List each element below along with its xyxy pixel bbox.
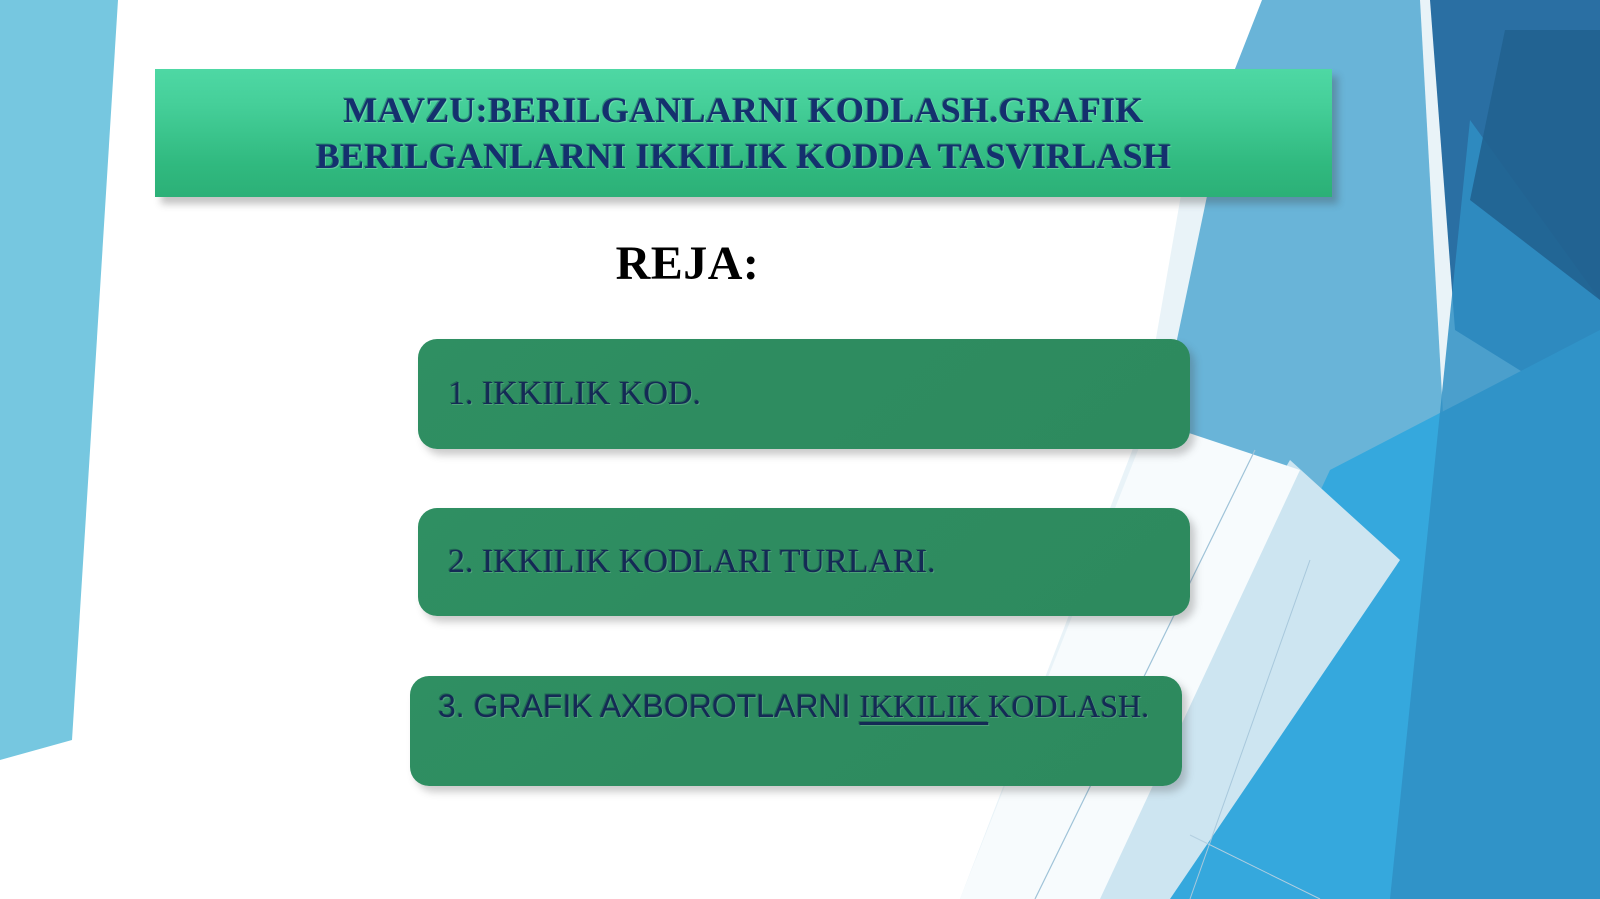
agenda-item-3-hyperlink[interactable]: IKKILIK [859, 688, 988, 724]
agenda-item-3[interactable]: 3. GRAFIK AXBOROTLARNI IKKILIK KODLASH. [410, 676, 1182, 786]
slide-title: MAVZU:BERILGANLARNI KODLASH.GRAFIK BERIL… [155, 87, 1332, 179]
plan-heading: REJA: [0, 236, 1375, 291]
agenda-item-3-tail-text: KODLASH. [988, 688, 1149, 724]
slide-title-banner: MAVZU:BERILGANLARNI KODLASH.GRAFIK BERIL… [155, 69, 1332, 197]
agenda-item-2[interactable]: 2. IKKILIK KODLARI TURLARI. [418, 508, 1190, 616]
agenda-item-3-lead-text: 3. GRAFIK AXBOROTLARNI [438, 688, 859, 724]
agenda-item-2-label: 2. IKKILIK KODLARI TURLARI. [418, 541, 954, 582]
slide-title-line-1: MAVZU:BERILGANLARNI KODLASH.GRAFIK [181, 87, 1306, 133]
agenda-item-1-label: 1. IKKILIK KOD. [418, 373, 719, 414]
agenda-item-1[interactable]: 1. IKKILIK KOD. [418, 339, 1190, 449]
presentation-slide: MAVZU:BERILGANLARNI KODLASH.GRAFIK BERIL… [0, 0, 1600, 899]
slide-title-line-2: BERILGANLARNI IKKILIK KODDA TASVIRLASH [181, 133, 1306, 179]
agenda-item-3-label: 3. GRAFIK AXBOROTLARNI IKKILIK KODLASH. [410, 686, 1167, 726]
